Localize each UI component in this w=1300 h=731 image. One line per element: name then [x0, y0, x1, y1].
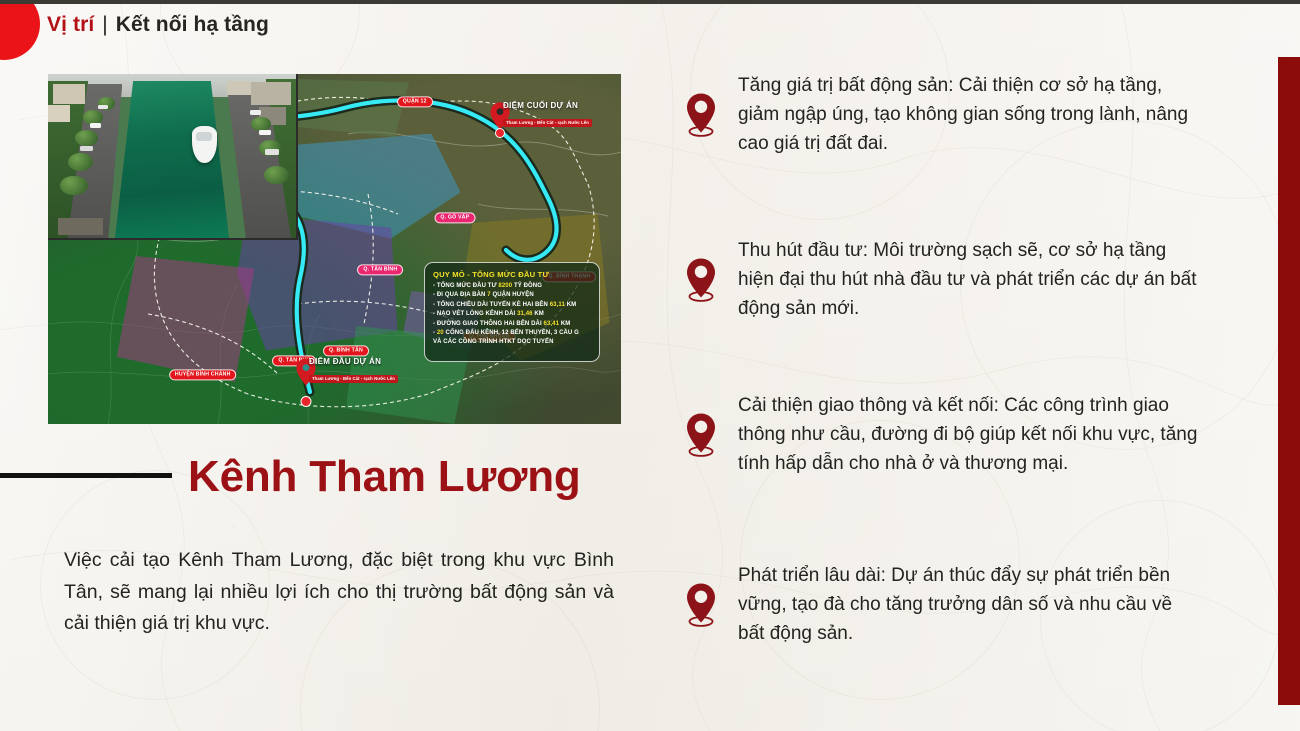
info-box-row: - NẠO VÉT LÒNG KÊNH DÀI 31,46 KM [433, 311, 591, 317]
info-box-row: - TỔNG CHIỀU DÀI TUYẾN KÈ HAI BÊN 63,11 … [433, 302, 591, 308]
info-box-row: VÀ CÁC CÔNG TRÌNH HTKT DỌC TUYẾN [433, 339, 591, 345]
list-item-text: Cải thiện giao thông và kết nối: Các côn… [738, 392, 1200, 479]
map-endpoint-marker-start: ĐIỂM ĐẦU DỰ ÁN Tham Lương - Bến Cát - rạ… [295, 357, 317, 392]
right-accent-bar [1278, 57, 1300, 705]
map-label-quan-12: QUẬN 12 [397, 96, 433, 107]
page-title-rest: Kết nối hạ tầng [116, 13, 269, 36]
map-endpoint-dot-end [495, 128, 505, 138]
list-item-text: Thu hút đầu tư: Môi trường sạch sẽ, cơ s… [738, 237, 1200, 324]
map-endpoint-dot-start [301, 396, 312, 407]
map-endpoint-subtitle: Tham Lương - Bến Cát - rạch Nước Lên [309, 375, 398, 382]
slide-header: Vị trí | Kết nối hạ tầng [0, 0, 700, 56]
map-label-tan-binh: Q. TÂN BÌNH [357, 264, 403, 275]
slide-root: Vị trí | Kết nối hạ tầng [0, 0, 1300, 731]
info-box-row: - ĐƯỜNG GIAO THÔNG HAI BÊN DÀI 63,41 KM [433, 321, 591, 327]
inset-tree [68, 153, 93, 171]
project-scale-info-box: QUY MÔ - TỔNG MỨC ĐẦU TƯ - TỔNG MỨC ĐẦU … [424, 262, 600, 362]
section-paragraph: Việc cải tạo Kênh Tham Lương, đặc biệt t… [64, 545, 614, 640]
top-accent-strip [0, 0, 1300, 4]
info-box-row: - ĐI QUA ĐỊA BÀN 7 QUẬN HUYỆN [433, 292, 591, 298]
inset-car [90, 123, 101, 128]
red-circle-icon [0, 0, 40, 60]
inset-car [98, 105, 108, 109]
section-title: Kênh Tham Lương [188, 452, 581, 502]
list-item: Cải thiện giao thông và kết nối: Các côn… [680, 392, 1200, 479]
map-endpoint-title: ĐIỂM CUỐI DỰ ÁN [503, 102, 592, 111]
map-pin-icon [680, 411, 722, 459]
inset-boat [192, 126, 217, 162]
page-title: Vị trí | Kết nối hạ tầng [47, 13, 269, 37]
canal-rendering-inset [48, 74, 298, 240]
info-box-title: QUY MÔ - TỔNG MỨC ĐẦU TƯ [433, 270, 591, 279]
page-title-separator: | [100, 13, 110, 36]
page-title-highlight: Vị trí [47, 13, 94, 36]
map-label-binh-chanh: HUYỆN BÌNH CHÁNH [169, 369, 237, 380]
map-pin-icon [680, 91, 722, 139]
list-item: Tăng giá trị bất động sản: Cải thiện cơ … [680, 72, 1200, 159]
map-pin-icon [680, 256, 722, 304]
inset-tree [60, 176, 87, 196]
list-item: Thu hút đầu tư: Môi trường sạch sẽ, cơ s… [680, 237, 1200, 324]
map-label-binh-tan: Q. BÌNH TÂN [323, 345, 369, 356]
map-label-go-vap: Q. GÒ VẤP [434, 212, 475, 223]
inset-tree [75, 130, 97, 146]
inset-car [259, 130, 271, 135]
info-box-row: - 20 CỐNG ĐẤU KÊNH, 12 BẾN THUYỀN, 3 CẦU… [433, 330, 591, 336]
list-item: Phát triển lâu dài: Dự án thúc đẩy sự ph… [680, 562, 1200, 649]
map-endpoint-title: ĐIỂM ĐẦU DỰ ÁN [309, 358, 398, 367]
list-item-text: Tăng giá trị bất động sản: Cải thiện cơ … [738, 72, 1200, 159]
inset-car [250, 110, 261, 115]
info-box-row: - TỔNG MỨC ĐẦU TƯ 8200 TỶ ĐỒNG [433, 283, 591, 289]
inset-car [265, 149, 278, 154]
inset-tree [264, 166, 289, 184]
info-box-rows: - TỔNG MỨC ĐẦU TƯ 8200 TỶ ĐỒNG - ĐI QUA … [433, 283, 591, 345]
title-rule [0, 473, 172, 478]
inset-car [80, 146, 92, 151]
map-pin-icon [680, 581, 722, 629]
map-endpoint-subtitle: Tham Lương - Bến Cát - rạch Nước Lên [503, 119, 592, 126]
list-item-text: Phát triển lâu dài: Dự án thúc đẩy sự ph… [738, 562, 1200, 649]
